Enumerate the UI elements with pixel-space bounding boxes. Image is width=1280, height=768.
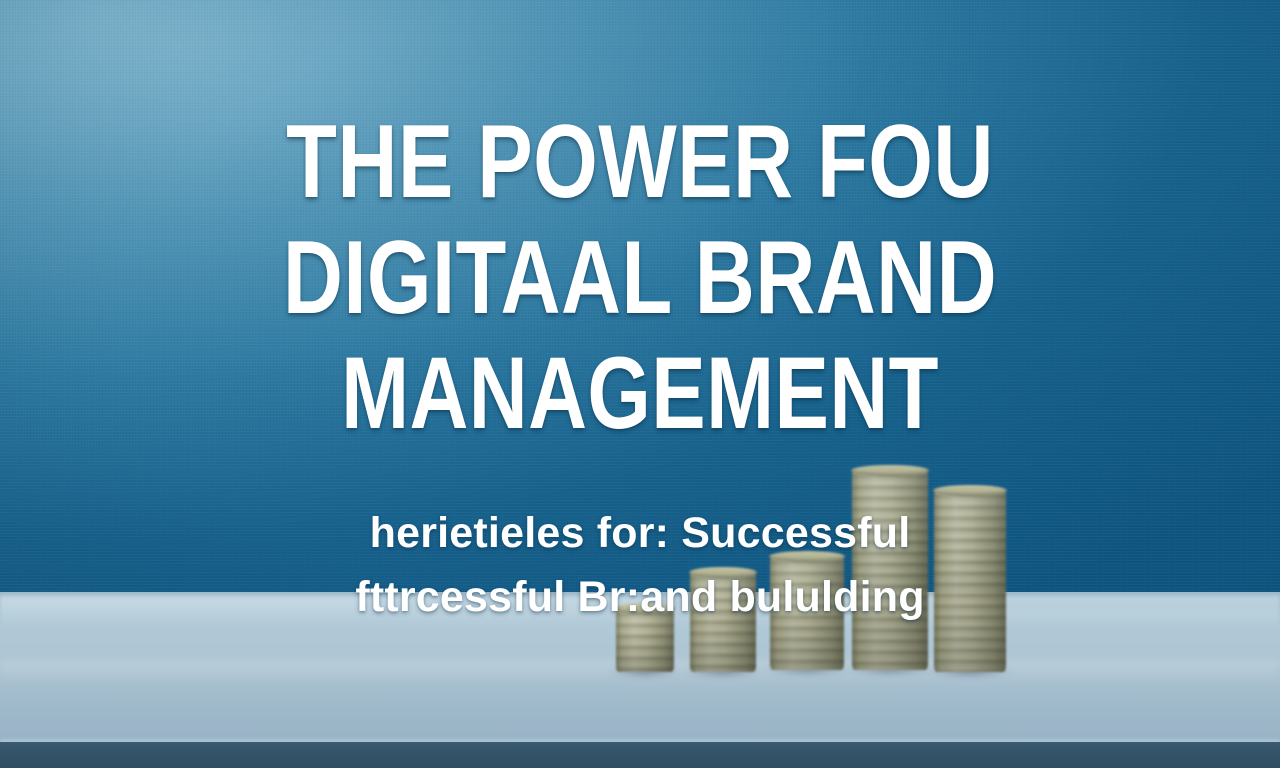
table-reflection <box>0 660 1280 686</box>
headline-block: THE POWER FOU DIGITAAL BRAND MANAGEMENT <box>0 112 1280 444</box>
table-front-edge <box>0 742 1280 768</box>
poster-canvas: THE POWER FOU DIGITAAL BRAND MANAGEMENT … <box>0 0 1280 768</box>
headline-line-3: MANAGEMENT <box>128 344 1152 444</box>
subtitle-block: herietieles for: Successful fttrcessful … <box>0 512 1280 619</box>
subtitle-line-1: herietieles for: Successful <box>0 512 1280 555</box>
headline-line-1: THE POWER FOU <box>128 112 1152 214</box>
subtitle-line-2: fttrcessful Br:and bululding <box>0 576 1280 619</box>
headline-line-2: DIGITAAL BRAND <box>128 228 1152 330</box>
